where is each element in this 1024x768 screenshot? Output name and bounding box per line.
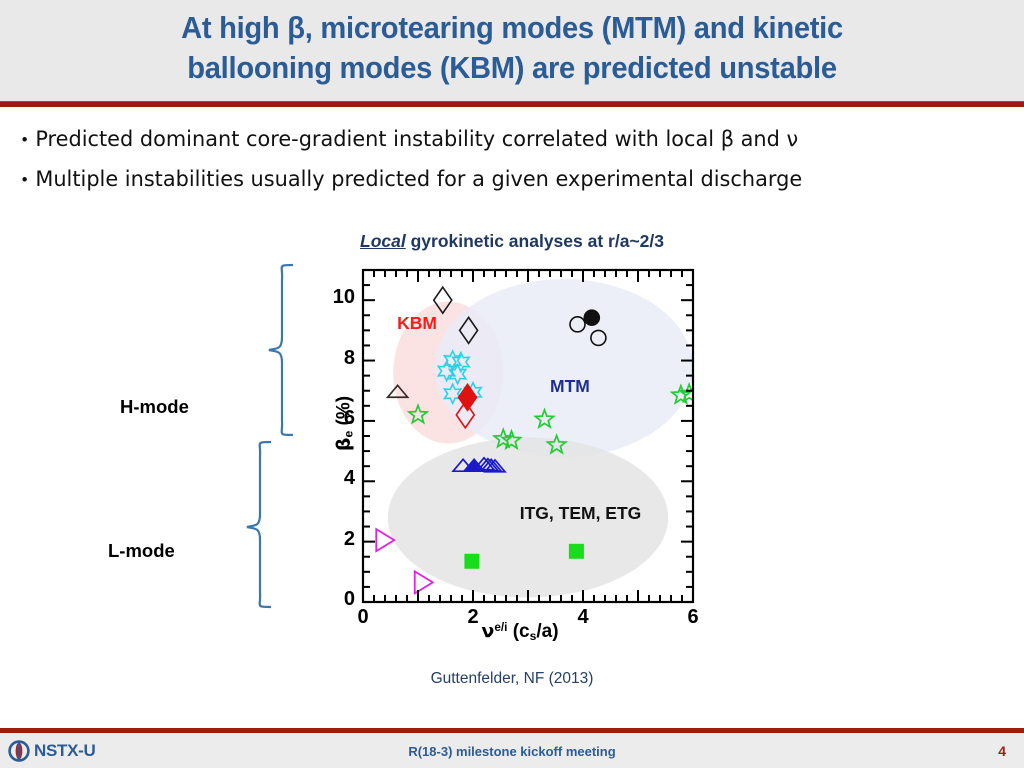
region-label: MTM: [550, 376, 590, 396]
l-mode-label: L-mode: [108, 540, 175, 562]
chart-subtitle-emphasis: Local: [360, 231, 406, 251]
y-tick-label: 6: [315, 407, 355, 430]
bullet-text: Predicted dominant core-gradient instabi…: [35, 125, 984, 155]
list-item: • Multiple instabilities usually predict…: [14, 165, 984, 195]
slide-header: At high β, microtearing modes (MTM) and …: [0, 0, 1024, 101]
list-item: • Predicted dominant core-gradient insta…: [14, 125, 984, 155]
x-tick-label: 2: [453, 606, 493, 629]
footer-meeting-title: R(18-3) milestone kickoff meeting: [0, 744, 1024, 759]
figure-citation: Guttenfelder, NF (2013): [0, 670, 1024, 688]
bullet-list: • Predicted dominant core-gradient insta…: [14, 125, 1014, 205]
region-label: KBM: [397, 313, 437, 333]
l-mode-brace-icon: [247, 442, 271, 607]
bullet-marker-icon: •: [14, 165, 35, 195]
x-axis-label: νe/i (cs/a): [400, 620, 640, 643]
y-tick-label: 8: [315, 347, 355, 370]
bullet-text: Multiple instabilities usually predicted…: [35, 165, 984, 195]
y-tick-label: 10: [315, 286, 355, 309]
header-divider-highlight: [0, 101, 1024, 102]
x-tick-label: 4: [563, 606, 603, 629]
chart-subtitle: Local gyrokinetic analyses at r/a~2/3: [0, 231, 1024, 252]
bullet-marker-icon: •: [14, 125, 35, 155]
y-tick-label: 2: [315, 528, 355, 551]
data-point-filled-circle-black: [584, 310, 600, 326]
h-mode-label: H-mode: [120, 396, 189, 418]
chart-subtitle-rest: gyrokinetic analyses at r/a~2/3: [406, 231, 664, 251]
title-line-1: At high β, microtearing modes (MTM) and …: [181, 10, 843, 45]
page-number: 4: [998, 743, 1006, 759]
data-point-filled-square-green: [569, 544, 583, 558]
region-label: ITG, TEM, ETG: [520, 503, 642, 523]
title-line-2: ballooning modes (KBM) are predicted uns…: [187, 50, 837, 85]
data-point-filled-square-green: [465, 554, 479, 568]
y-tick-label: 0: [315, 588, 355, 611]
scatter-plot: KBMMTMITG, TEM, ETG βe (%) νe/i (cs/a) 0…: [290, 262, 710, 662]
x-tick-label: 6: [673, 606, 713, 629]
page-title: At high β, microtearing modes (MTM) and …: [59, 8, 965, 88]
y-tick-label: 4: [315, 467, 355, 490]
